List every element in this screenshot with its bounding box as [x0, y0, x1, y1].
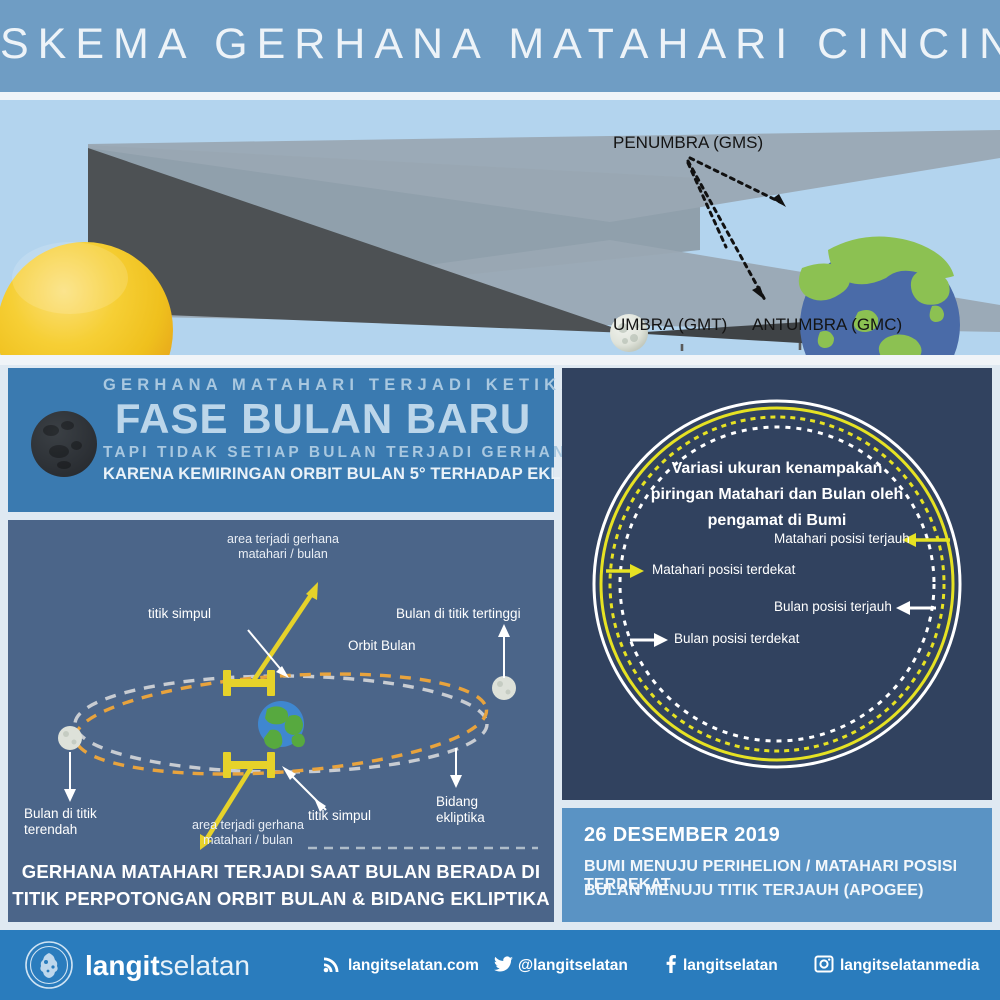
- event-note-2: BULAN MENUJU TITIK TERJAUH (APOGEE): [584, 882, 924, 900]
- new-moon-line-4: KARENA KEMIRINGAN ORBIT BULAN 5° TERHADA…: [103, 465, 543, 484]
- footer-twitter[interactable]: @langitselatan: [518, 957, 628, 975]
- twitter-icon[interactable]: [494, 954, 514, 974]
- footer-instagram[interactable]: langitselatanmedia: [840, 957, 980, 975]
- sky-divider: [0, 355, 1000, 365]
- label-moon-lowest: Bulan di titik terendah: [24, 806, 134, 838]
- label-eclipse-area-top-l2: matahari / bulan: [193, 547, 373, 562]
- label-penumbra: PENUMBRA (GMS): [613, 133, 763, 153]
- new-moon-line-3: TAPI TIDAK SETIAP BULAN TERJADI GERHANA: [103, 444, 543, 462]
- label-moon-farthest: Bulan posisi terjauh: [774, 599, 892, 614]
- label-moon-highest: Bulan di titik tertinggi: [396, 606, 521, 622]
- apparent-size-title-l2: piringan Matahari dan Bulan oleh: [604, 482, 950, 508]
- label-node-top: titik simpul: [148, 606, 211, 622]
- label-eclipse-area-bottom: area terjadi gerhana matahari / bulan: [188, 818, 308, 848]
- apparent-size-panel: Variasi ukuran kenampakan piringan Matah…: [562, 368, 992, 800]
- footer-website[interactable]: langitselatan.com: [348, 957, 479, 975]
- label-ecliptic-plane-l2: ekliptika: [436, 810, 520, 826]
- apparent-size-title: Variasi ukuran kenampakan piringan Matah…: [604, 456, 950, 534]
- rss-icon[interactable]: [322, 954, 342, 974]
- moon-low-icon: [58, 726, 82, 750]
- node-marker-top: [223, 670, 275, 696]
- label-node-bottom: titik simpul: [308, 808, 371, 824]
- label-eclipse-area-top-l1: area terjadi gerhana: [193, 532, 373, 547]
- label-eclipse-area-top: area terjadi gerhana matahari / bulan: [193, 532, 373, 562]
- new-moon-line-1: GERHANA MATAHARI TERJADI KETIKA: [103, 376, 543, 395]
- label-sun-nearest: Matahari posisi terdekat: [652, 562, 795, 577]
- infographic-root: SKEMA GERHANA MATAHARI CINCIN: [0, 0, 1000, 1000]
- orbit-caption: GERHANA MATAHARI TERJADI SAAT BULAN BERA…: [8, 858, 554, 912]
- label-eclipse-area-bottom-l2: matahari / bulan: [188, 833, 308, 848]
- moon-high-icon: [492, 676, 516, 700]
- header-bar: SKEMA GERHANA MATAHARI CINCIN: [0, 0, 1000, 92]
- date-panel: 26 DESEMBER 2019 BUMI MENUJU PERIHELION …: [562, 808, 992, 922]
- label-moon-lowest-l2: terendah: [24, 822, 134, 838]
- header-divider: [0, 92, 1000, 100]
- brand-wordmark: langitselatan: [85, 950, 250, 982]
- label-moon-orbit: Orbit Bulan: [348, 638, 416, 654]
- orbit-diagram-panel: area terjadi gerhana matahari / bulan ti…: [8, 520, 554, 922]
- footer-bar: langitselatan langitselatan.com @langits…: [0, 930, 1000, 1000]
- label-moon-nearest: Bulan posisi terdekat: [674, 631, 799, 646]
- eclipse-area-arrow-top: [254, 592, 313, 680]
- new-moon-icon: [31, 411, 97, 477]
- label-eclipse-area-bottom-l1: area terjadi gerhana: [188, 818, 308, 833]
- apparent-size-title-l1: Variasi ukuran kenampakan: [604, 456, 950, 482]
- label-ecliptic-plane: Bidang ekliptika: [436, 794, 520, 826]
- new-moon-text-block: GERHANA MATAHARI TERJADI KETIKA FASE BUL…: [103, 376, 543, 484]
- brand-bold: langit: [85, 950, 160, 981]
- label-sun-farthest: Matahari posisi terjauh: [774, 531, 910, 546]
- orbit-caption-l1: GERHANA MATAHARI TERJADI SAAT BULAN BERA…: [8, 858, 554, 885]
- new-moon-panel: GERHANA MATAHARI TERJADI KETIKA FASE BUL…: [8, 368, 554, 512]
- page-title: SKEMA GERHANA MATAHARI CINCIN: [0, 20, 1000, 69]
- event-date: 26 DESEMBER 2019: [584, 824, 780, 847]
- label-antumbra: ANTUMBRA (GMC): [752, 315, 902, 335]
- orbit-caption-l2: TITIK PERPOTONGAN ORBIT BULAN & BIDANG E…: [8, 885, 554, 912]
- instagram-icon[interactable]: [814, 954, 834, 974]
- label-moon-lowest-l1: Bulan di titik: [24, 806, 134, 822]
- eclipse-geometry-diagram: PENUMBRA (GMS) UMBRA (GMT) ANTUMBRA (GMC…: [0, 100, 1000, 355]
- facebook-icon[interactable]: [662, 954, 678, 974]
- footer-facebook[interactable]: langitselatan: [683, 957, 778, 975]
- langitselatan-seal-logo: [24, 940, 74, 990]
- label-umbra: UMBRA (GMT): [613, 315, 727, 335]
- label-ecliptic-plane-l1: Bidang: [436, 794, 520, 810]
- brand-light: selatan: [160, 950, 250, 981]
- new-moon-headline: FASE BULAN BARU: [103, 396, 543, 442]
